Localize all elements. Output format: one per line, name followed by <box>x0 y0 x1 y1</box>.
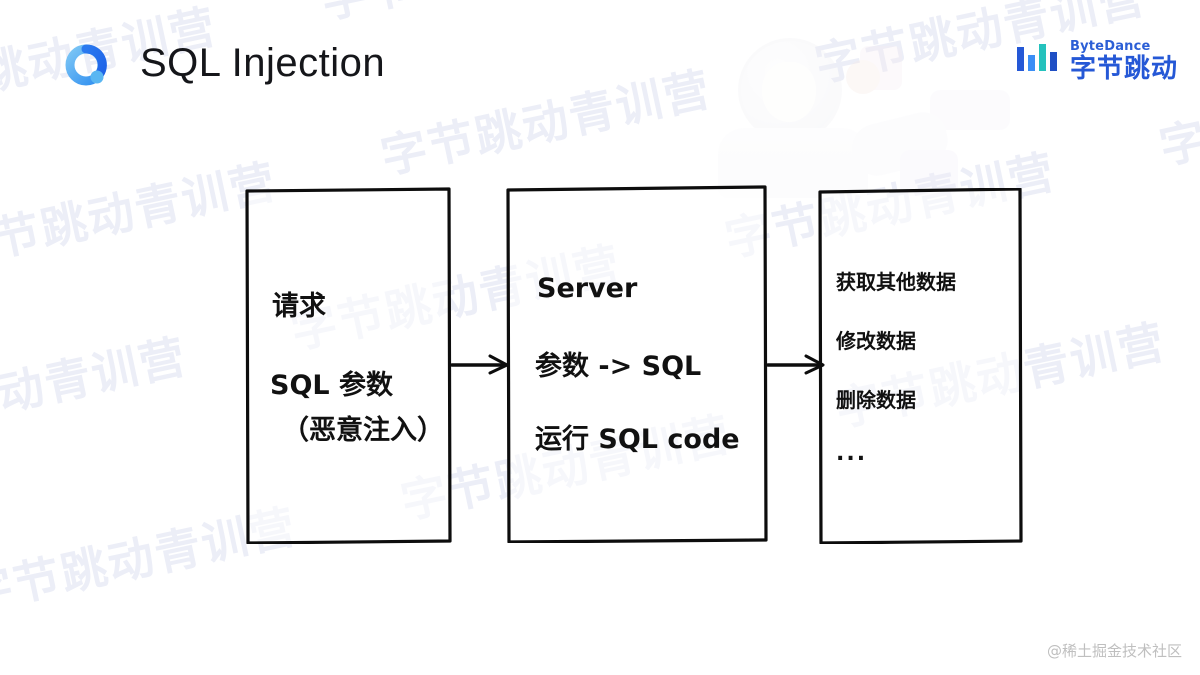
box-line: （恶意注入） <box>282 408 452 447</box>
bytedance-brand-text: ByteDance 字节跳动 <box>1070 40 1178 82</box>
client-request-box: 请求 SQL 参数 （恶意注入） <box>244 187 452 544</box>
impact-box: 获取其他数据 修改数据 删除数据 ... <box>817 188 1023 544</box>
brand-name-en: ByteDance <box>1070 40 1178 53</box>
box-line: 参数 -> SQL <box>535 344 768 383</box>
arrow-right-icon <box>766 348 828 387</box>
box-line: 修改数据 <box>836 325 1023 354</box>
box-line: 获取其他数据 <box>836 266 1023 295</box>
brand-name-cn: 字节跳动 <box>1070 56 1178 82</box>
bytedance-brand-logo: ByteDance 字节跳动 <box>1017 40 1178 82</box>
flow-diagram: 请求 SQL 参数 （恶意注入） Server 参数 -> SQL 运行 SQL… <box>0 0 1200 675</box>
bytedance-bars-icon <box>1017 44 1061 79</box>
source-credit: @稀土掘金技术社区 <box>1047 640 1182 661</box>
arrow-right-icon <box>450 348 512 387</box>
box-line: Server <box>537 273 768 304</box>
slide-canvas: 字节跳动青训营 字节跳动青训营 字节跳动青训营 字节跳动青训营 字节跳动青训营 … <box>0 0 1200 675</box>
circle-ring-logo-icon <box>65 44 110 89</box>
box-line: SQL 参数 <box>270 363 452 402</box>
box-line: 运行 SQL code <box>535 417 768 456</box>
server-box: Server 参数 -> SQL 运行 SQL code <box>505 185 768 543</box>
box-line: ... <box>836 441 1023 466</box>
page-title: SQL Injection <box>140 41 385 86</box>
box-line: 删除数据 <box>836 384 1023 413</box>
box-line: 请求 <box>272 284 452 323</box>
